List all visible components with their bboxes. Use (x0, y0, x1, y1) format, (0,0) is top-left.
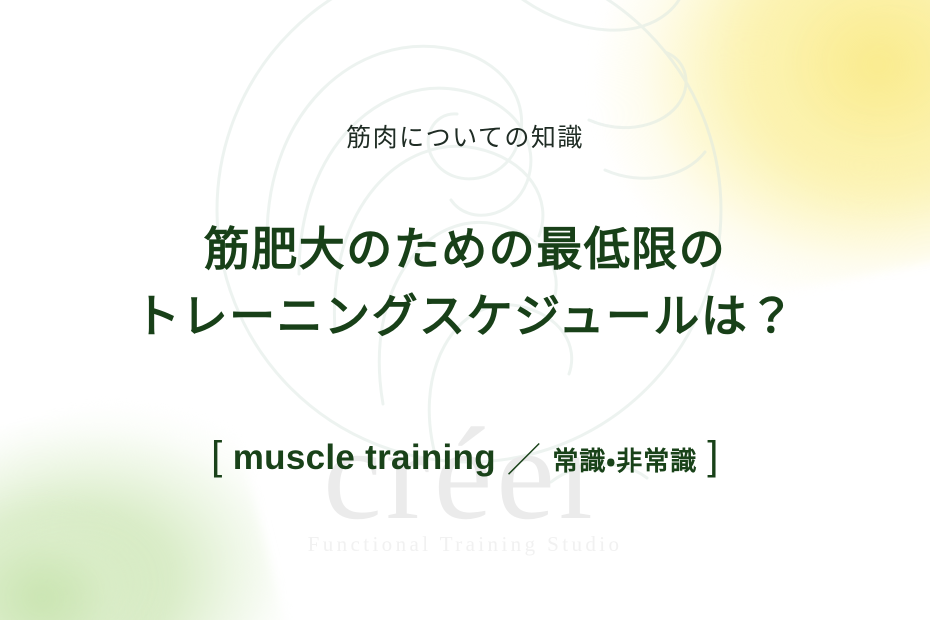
page-title-line-1: 筋肥大のための最低限の (134, 216, 796, 283)
category-tag-english: muscle training (233, 438, 496, 478)
eyebrow-label: 筋肉についての知識 (346, 118, 584, 154)
category-tag-japanese: 常識・非常識 (552, 441, 697, 478)
title-card: créer Functional Training Studio 筋肉についての… (0, 0, 930, 620)
category-tag-separator: ／ (507, 433, 542, 482)
page-title-line-2: トレーニングスケジュールは？ (134, 283, 796, 350)
content-stack: 筋肉についての知識 筋肥大のための最低限の トレーニングスケジュールは？ [ m… (0, 0, 930, 620)
page-title: 筋肥大のための最低限の トレーニングスケジュールは？ (134, 216, 796, 350)
bracket-open: [ (211, 434, 223, 479)
category-tag: [ muscle training ／ 常識・非常識 ] (201, 433, 729, 482)
bracket-close: ] (707, 434, 719, 479)
